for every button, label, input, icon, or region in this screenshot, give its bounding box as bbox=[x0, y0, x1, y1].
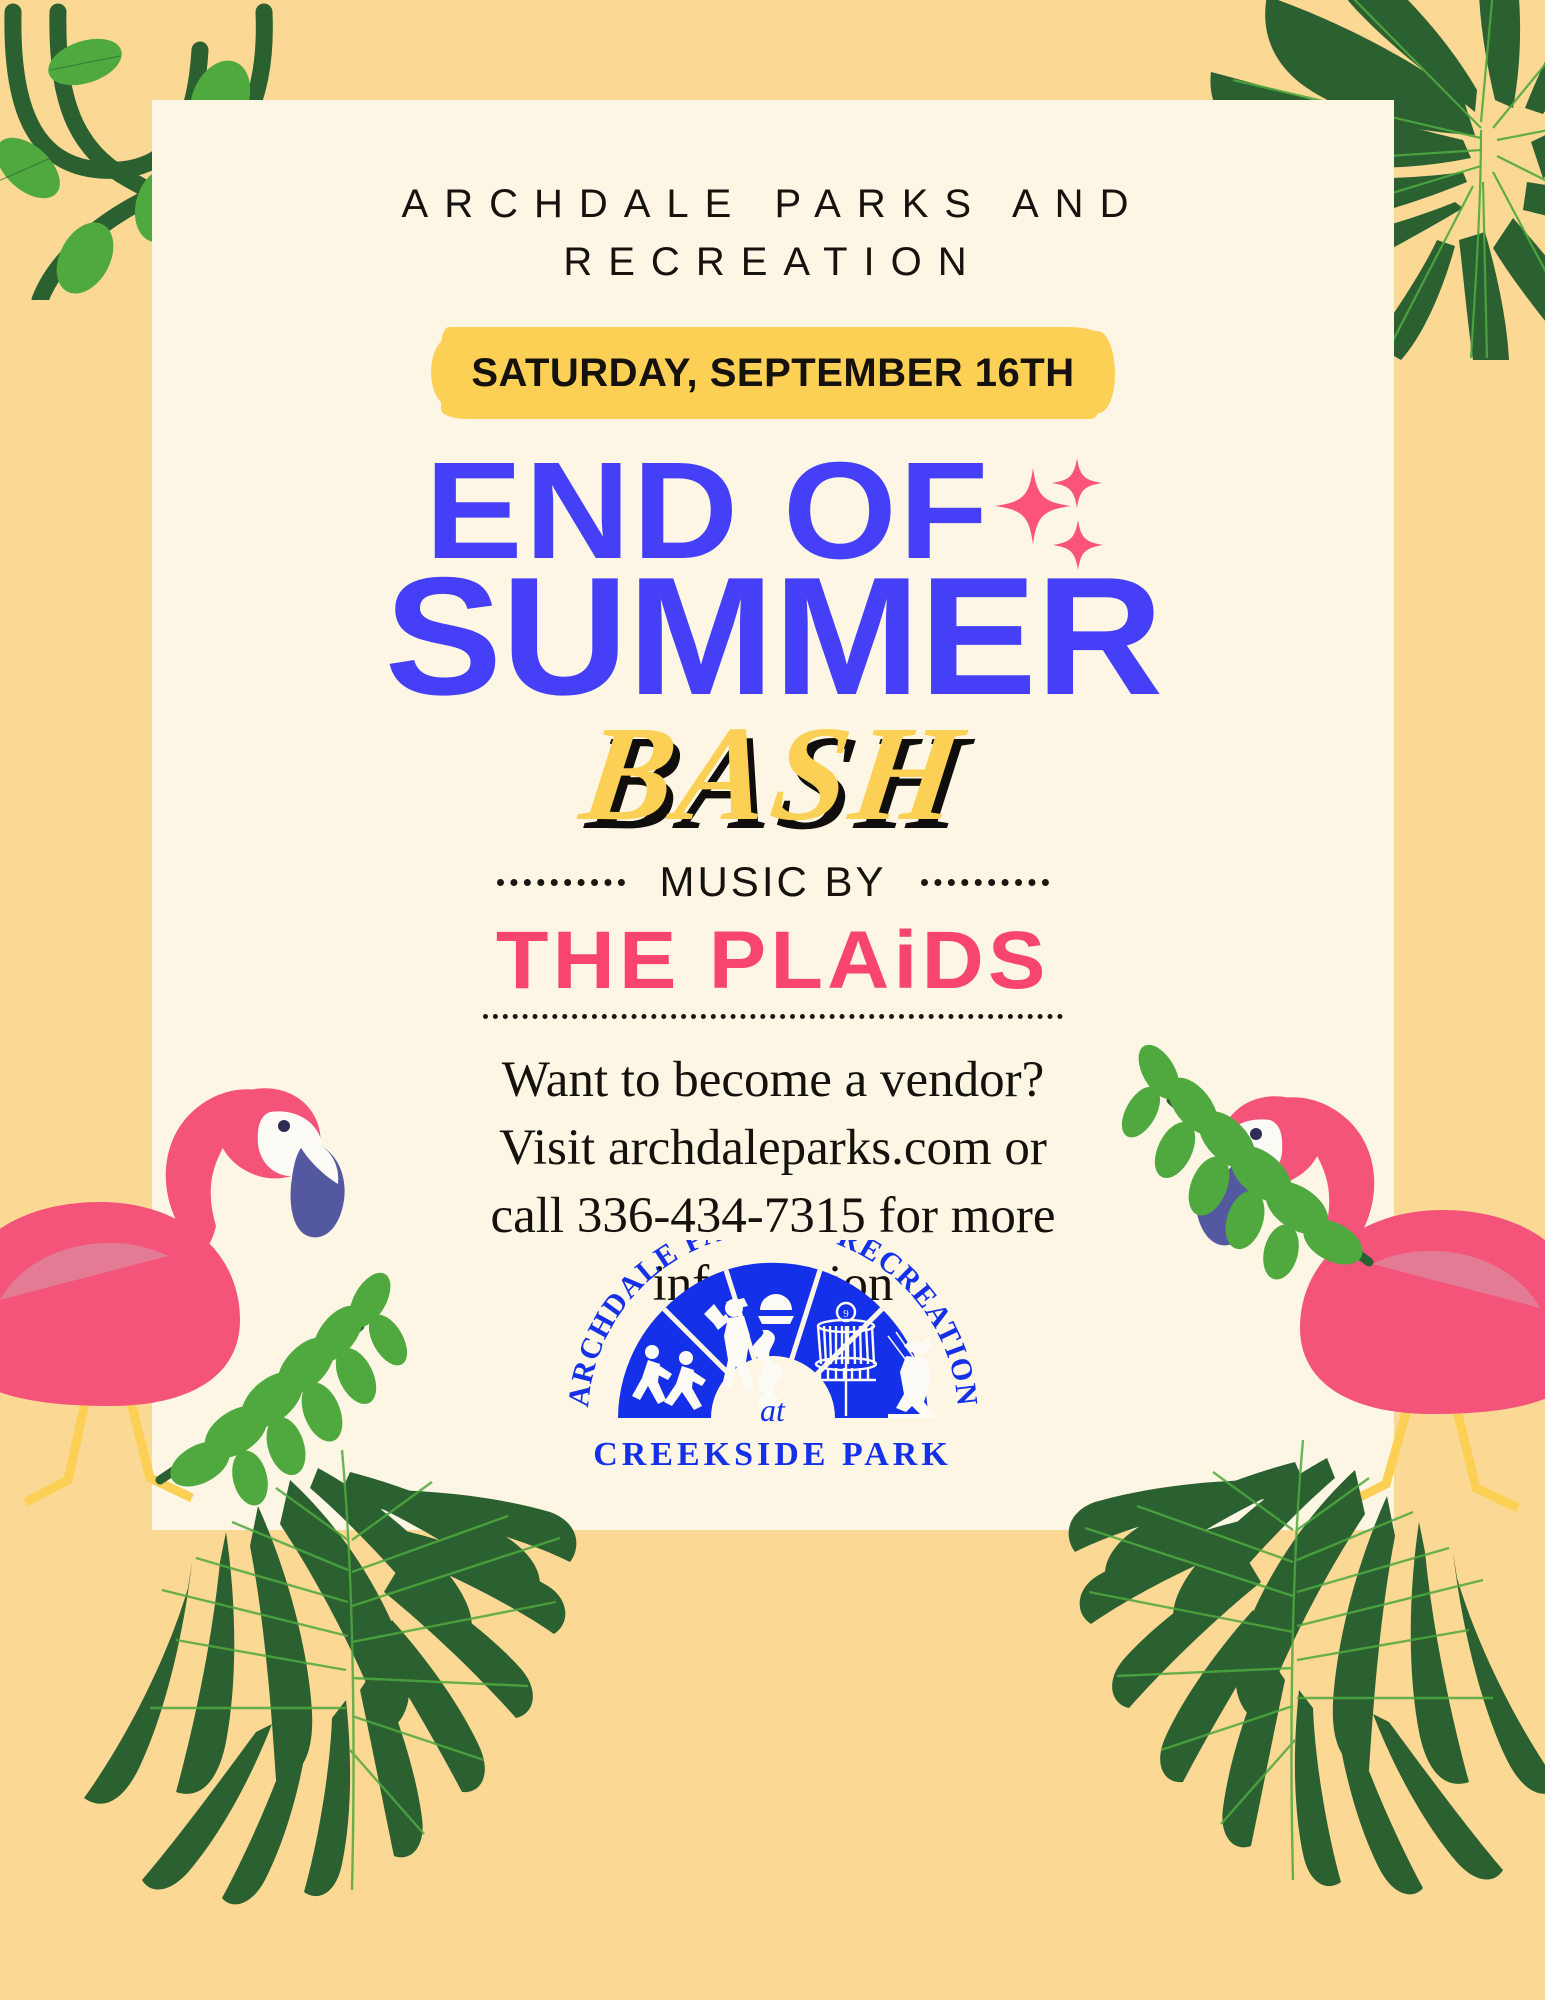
logo-park-name: CREEKSIDE PARK bbox=[558, 1436, 988, 1474]
event-date: SATURDAY, SEPTEMBER 16TH bbox=[423, 321, 1123, 426]
vendor-line: Want to become a vendor? bbox=[423, 1047, 1123, 1115]
music-by-row: MUSIC BY bbox=[497, 858, 1048, 906]
poster-canvas: ARCHDALE PARKS AND RECREATION SATURDAY, … bbox=[0, 0, 1545, 2000]
archdale-parks-logo: ARCHDALE PARKS & RECREATION bbox=[558, 1240, 988, 1485]
title-bash: BASH bbox=[574, 706, 972, 842]
dotted-rule-left bbox=[497, 879, 625, 886]
dotted-rule-right bbox=[921, 879, 1049, 886]
organization-name: ARCHDALE PARKS AND RECREATION bbox=[363, 175, 1183, 291]
basket-number: 9 bbox=[843, 1308, 849, 1320]
date-banner: SATURDAY, SEPTEMBER 16TH bbox=[423, 321, 1123, 426]
music-by-label: MUSIC BY bbox=[659, 858, 886, 906]
vendor-line: Visit archdaleparks.com or bbox=[423, 1115, 1123, 1183]
dotted-rule-under-band bbox=[483, 1014, 1063, 1019]
title-summer: SUMMER bbox=[384, 561, 1162, 712]
logo-at-text: at bbox=[558, 1392, 988, 1429]
band-name: THE PLAiDS bbox=[496, 920, 1050, 1002]
